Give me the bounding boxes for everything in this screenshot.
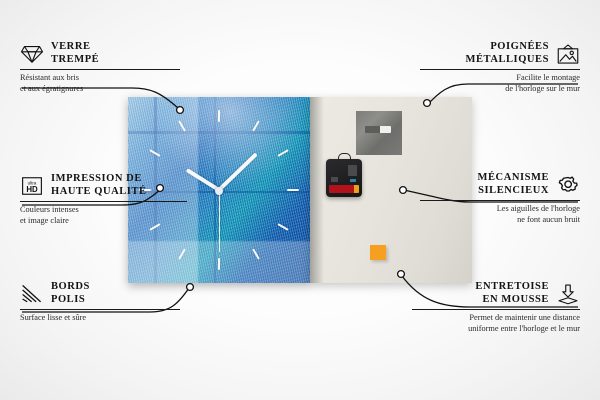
clock-second-hand	[219, 190, 221, 252]
callout-rule	[20, 69, 180, 70]
clock-tick	[218, 110, 220, 122]
face-grid-line	[128, 131, 310, 134]
callout-subtitle: Surface lisse et sûre	[20, 313, 180, 324]
face-grid-line	[214, 97, 216, 283]
connector-dot-bords-polis	[187, 284, 194, 291]
callout-mecanisme-silencieux[interactable]: MÉCANISME SILENCIEUX Les aiguilles de l'…	[420, 172, 580, 225]
callout-title: MÉCANISME SILENCIEUX	[478, 172, 549, 197]
callout-rule	[20, 309, 180, 310]
callout-subtitle: Résistant aux bris et aux égratignures	[20, 73, 180, 94]
callout-impression-haute-qualite[interactable]: ultra HD IMPRESSION DE HAUTE QUALITÉ Cou…	[20, 173, 187, 226]
callout-header: ENTRETOISE EN MOUSSE	[412, 281, 580, 306]
clock-tick	[149, 149, 160, 157]
mechanism-detail	[350, 179, 356, 182]
callout-title: VERRE TREMPÉ	[51, 41, 99, 66]
callout-header: ultra HD IMPRESSION DE HAUTE QUALITÉ	[20, 173, 187, 198]
clock-hour-hand	[186, 168, 220, 192]
clock-tick	[277, 149, 288, 157]
callout-header: VERRE TREMPÉ	[20, 41, 180, 66]
wall-mount-frame-icon	[556, 43, 580, 65]
infographic-stage: VERRE TREMPÉ Résistant aux bris et aux é…	[0, 0, 600, 400]
clock-tick	[218, 258, 220, 270]
callout-title: ENTRETOISE EN MOUSSE	[475, 281, 549, 306]
callout-subtitle: Les aiguilles de l'horloge ne font aucun…	[420, 204, 580, 225]
callout-title: POIGNÉES MÉTALLIQUES	[466, 41, 549, 66]
callout-title: IMPRESSION DE HAUTE QUALITÉ	[51, 173, 147, 198]
clock-tick	[277, 223, 288, 231]
mechanism-detail	[348, 165, 357, 176]
callout-rule	[420, 69, 580, 70]
ultra-hd-icon: ultra HD	[20, 175, 44, 197]
callout-header: BORDS POLIS	[20, 281, 180, 306]
callout-header: POIGNÉES MÉTALLIQUES	[420, 41, 580, 66]
mechanism-detail	[331, 177, 338, 182]
clock-tick	[252, 248, 260, 259]
quartz-mechanism	[326, 159, 362, 197]
foam-spacer	[370, 245, 386, 260]
callout-rule	[420, 200, 580, 201]
callout-title: BORDS POLIS	[51, 281, 90, 306]
clock-tick	[178, 248, 186, 259]
diamond-icon	[20, 43, 44, 65]
clock-tick	[178, 120, 186, 131]
hanger-slot	[365, 126, 391, 133]
clock-tick	[252, 120, 260, 131]
clock-minute-hand	[218, 152, 258, 191]
clock-tick	[287, 189, 299, 191]
foam-spacer-icon	[556, 283, 580, 305]
polished-edge-icon	[20, 283, 44, 305]
hanger-plate	[356, 111, 402, 155]
callout-subtitle: Couleurs intenses et image claire	[20, 205, 187, 226]
mechanism-hook	[338, 153, 351, 161]
callout-rule	[412, 309, 580, 310]
panel-seam-shadow	[310, 97, 324, 283]
callout-verre-trempe[interactable]: VERRE TREMPÉ Résistant aux bris et aux é…	[20, 41, 180, 94]
callout-subtitle: Facilite le montage de l'horloge sur le …	[420, 73, 580, 94]
battery	[329, 185, 359, 193]
clock-hub	[215, 187, 223, 195]
callout-entretoise-en-mousse[interactable]: ENTRETOISE EN MOUSSE Permet de maintenir…	[412, 281, 580, 334]
callout-subtitle: Permet de maintenir une distance uniform…	[412, 313, 580, 334]
svg-text:HD: HD	[26, 185, 38, 194]
callout-poignees-metalliques[interactable]: POIGNÉES MÉTALLIQUES Facilite le montage…	[420, 41, 580, 94]
callout-header: MÉCANISME SILENCIEUX	[420, 172, 580, 197]
callout-rule	[20, 201, 187, 202]
gear-icon	[556, 174, 580, 196]
callout-bords-polis[interactable]: BORDS POLIS Surface lisse et sûre	[20, 281, 180, 324]
